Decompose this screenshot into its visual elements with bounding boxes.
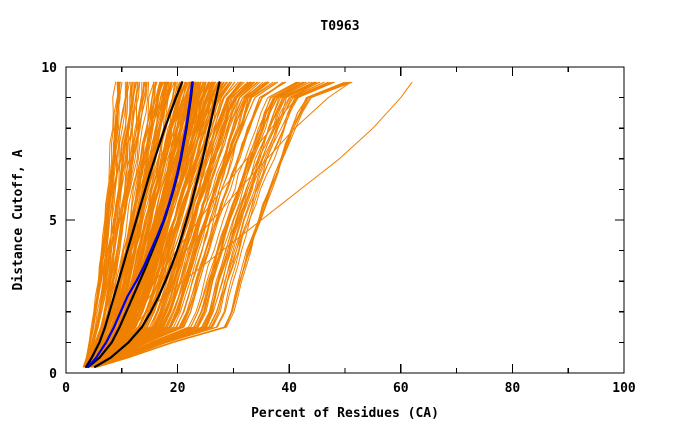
x-tick-label: 40 <box>281 381 297 396</box>
y-tick-label: 0 <box>49 367 57 382</box>
x-axis-label: Percent of Residues (CA) <box>251 406 439 421</box>
y-tick-label: 10 <box>41 61 57 76</box>
y-tick-label: 5 <box>49 214 57 229</box>
page-title: T0963 <box>320 19 359 34</box>
x-tick-label: 20 <box>170 381 186 396</box>
x-tick-label: 60 <box>393 381 409 396</box>
x-tick-label: 80 <box>505 381 521 396</box>
figure-background <box>0 0 680 440</box>
x-tick-label: 0 <box>62 381 70 396</box>
x-tick-label: 100 <box>612 381 636 396</box>
y-axis-label: Distance Cutoff, A <box>11 149 26 290</box>
plot-figure: T0963 0204060801000510 Percent of Residu… <box>0 0 680 440</box>
